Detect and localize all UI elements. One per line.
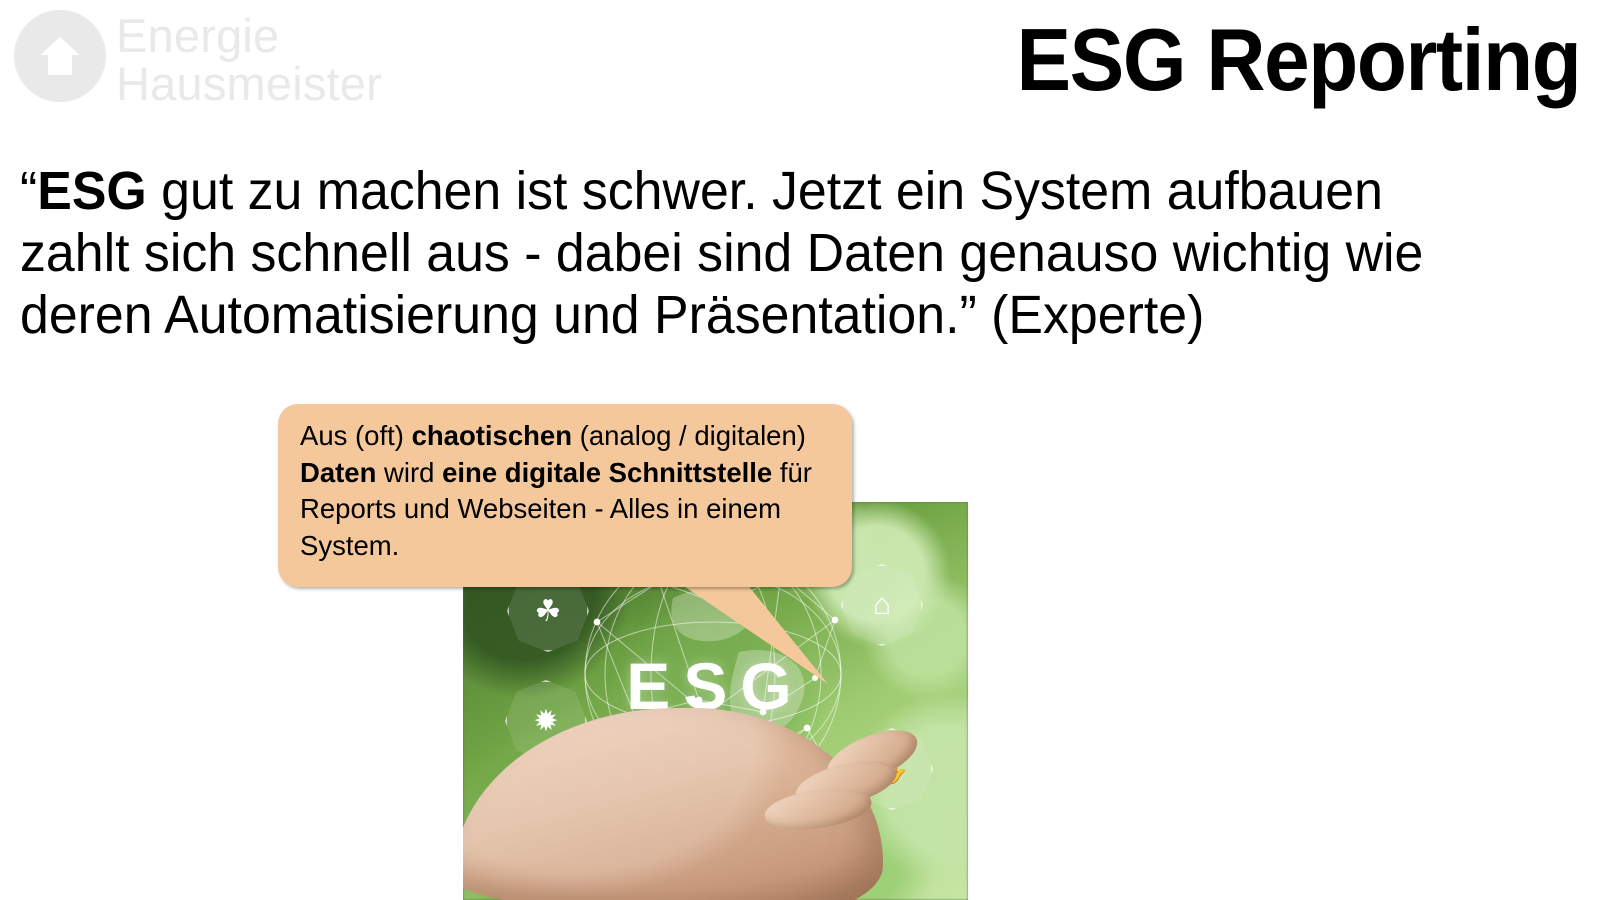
quote-body: gut zu machen ist schwer. Jetzt ein Syst… [20, 161, 1423, 345]
callout-text-segment: chaotischen [412, 420, 572, 451]
quote-open-quote: “ [20, 161, 37, 221]
page-title: ESG Reporting [1016, 16, 1580, 104]
callout-text-segment: (analog / digitalen) [572, 420, 806, 451]
callout-bubble[interactable]: Aus (oft) chaotischen (analog / digitale… [278, 404, 852, 587]
callout-text-segment: Aus (oft) [300, 420, 412, 451]
slide-canvas: Energie Hausmeister ESG Reporting “ESG g… [0, 0, 1600, 900]
callout-text-segment: eine digitale Schnittstelle [442, 457, 772, 488]
brand-name: Energie Hausmeister [116, 10, 382, 108]
quote-bold-lead: ESG [37, 161, 146, 221]
brand-logo: Energie Hausmeister [14, 10, 382, 108]
quote-paragraph: “ESG gut zu machen ist schwer. Jetzt ein… [20, 160, 1441, 346]
callout-text-segment: Daten [300, 457, 376, 488]
government-building-icon: ⌂ [841, 564, 923, 646]
house-in-circle-icon [14, 10, 106, 102]
house-icon [37, 33, 83, 79]
callout-text: Aus (oft) chaotischen (analog / digitale… [300, 418, 838, 564]
callout-text-segment: wird [376, 457, 442, 488]
